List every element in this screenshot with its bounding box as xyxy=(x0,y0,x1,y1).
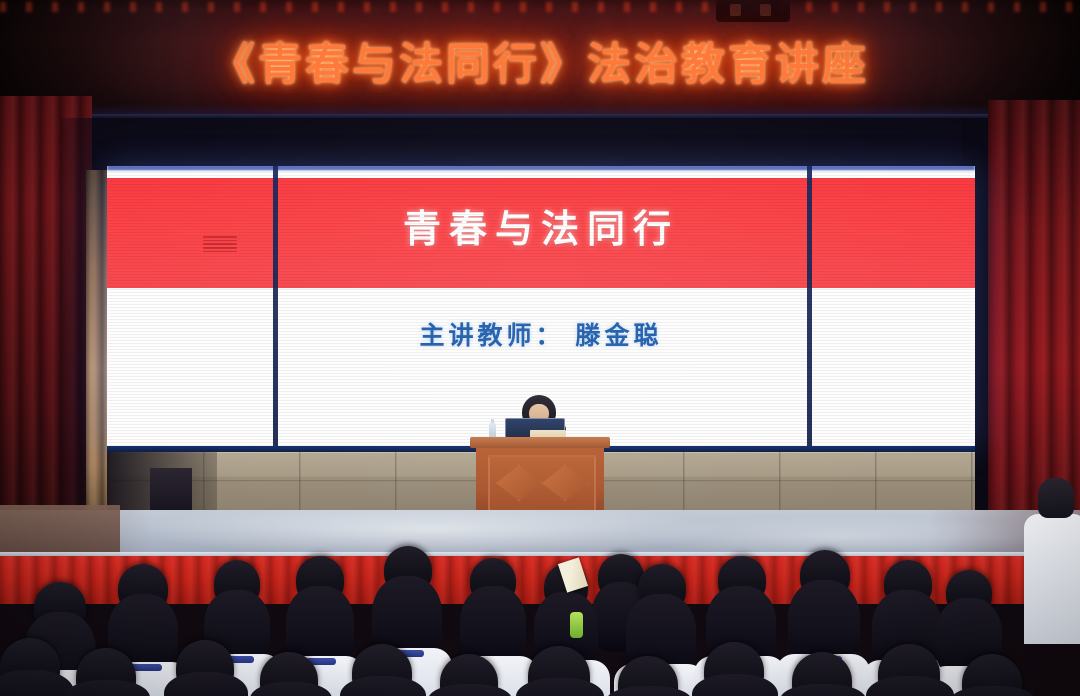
podium-diamond-right xyxy=(542,465,588,501)
screen-panel-seam-right xyxy=(807,166,812,448)
speaker-podium xyxy=(472,437,608,519)
screen-top-glow xyxy=(107,166,975,170)
event-title-banner: 《青春与法同行》法治教育讲座 xyxy=(0,28,1080,92)
stage-equipment-block xyxy=(150,468,192,510)
podium-front-panel xyxy=(488,455,596,513)
slide-presenter-line: 主讲教师： 滕金聪 xyxy=(107,316,975,352)
auditorium-scene: 《青春与法同行》法治教育讲座 青春与法同行 主讲教师： 滕金聪 xyxy=(0,0,1080,696)
curtain-right-red xyxy=(988,100,1080,530)
podium-top-surface xyxy=(470,437,610,448)
banner-led-lights xyxy=(0,2,1080,12)
event-banner-strip: 《青春与法同行》法治教育讲座 xyxy=(0,0,1080,118)
podium-diamond-left xyxy=(496,465,542,501)
podium-body xyxy=(476,447,604,519)
standing-attendee-right xyxy=(1024,478,1080,696)
screen-panel-seam-left xyxy=(273,166,278,448)
standing-attendee-head xyxy=(1038,478,1074,518)
slide-title: 青春与法同行 xyxy=(107,198,975,253)
audience-area xyxy=(0,520,1080,696)
standing-attendee-shirt xyxy=(1024,514,1080,644)
student-green-bottle xyxy=(570,612,583,638)
ceiling-speaker-fixture xyxy=(716,0,790,22)
